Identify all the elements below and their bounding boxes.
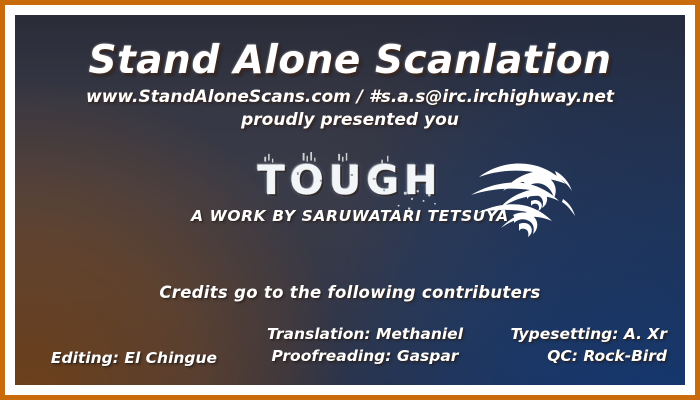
presented-by-line: proudly presented you	[15, 110, 685, 130]
credits-column-left: Editing: El Chingue	[15, 321, 253, 369]
work-title-block: TOUGH	[15, 161, 685, 225]
credits-heading: Credits go to the following contributers	[15, 283, 685, 302]
credit-line: QC: Rock-Bird	[477, 345, 667, 367]
header-block: Stand Alone Scanlation www.StandAloneSca…	[15, 41, 685, 130]
scanlation-group-title: Stand Alone Scanlation	[15, 41, 685, 82]
credit-line: Proofreading: Gaspar	[253, 345, 477, 367]
white-border-frame: Stand Alone Scanlation www.StandAloneSca…	[5, 5, 695, 395]
credit-line: Translation: Methaniel	[253, 323, 477, 345]
scanlation-group-url: www.StandAloneScans.com / #s.a.s@irc.irc…	[15, 88, 685, 108]
tribal-wing-ornament-icon	[467, 151, 577, 243]
artwork-canvas: Stand Alone Scanlation www.StandAloneSca…	[15, 15, 685, 385]
work-title-row: TOUGH	[257, 161, 442, 201]
credits-column-right: Typesetting: A. Xr QC: Rock-Bird	[477, 321, 685, 368]
credits-page: Stand Alone Scanlation www.StandAloneSca…	[0, 0, 700, 400]
credit-line: Typesetting: A. Xr	[477, 323, 667, 345]
credits-column-center: Translation: Methaniel Proofreading: Gas…	[253, 321, 477, 368]
credit-line: Editing: El Chingue	[15, 347, 253, 369]
credits-row: Editing: El Chingue Translation: Methani…	[15, 321, 685, 381]
content-stack: Stand Alone Scanlation www.StandAloneSca…	[15, 15, 685, 385]
work-author-line: A WORK BY SARUWATARI TETSUYA	[15, 207, 685, 225]
manga-title: TOUGH	[257, 158, 442, 204]
